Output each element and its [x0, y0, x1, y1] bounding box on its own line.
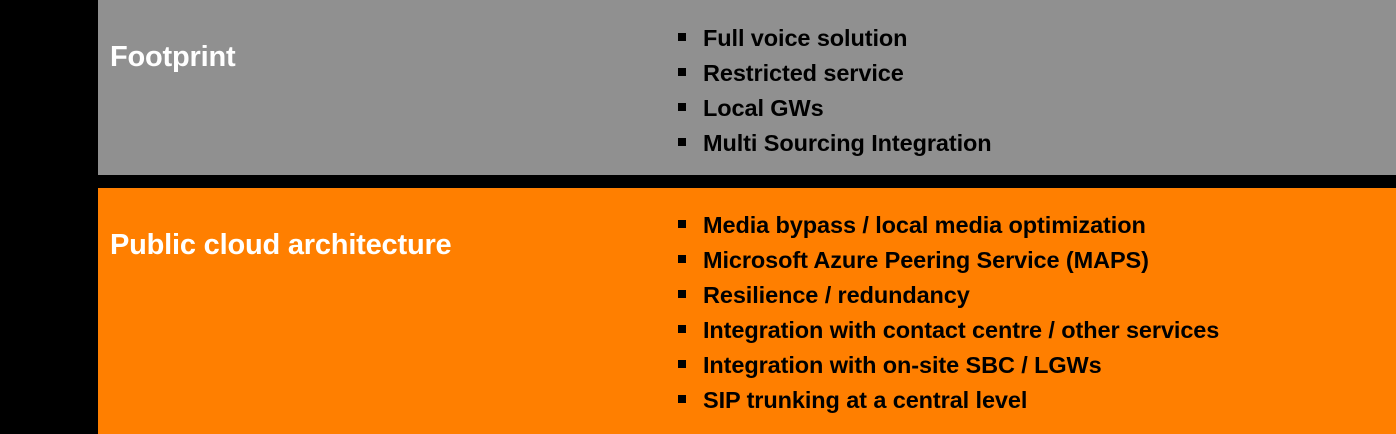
- square-bullet-icon: [678, 325, 686, 333]
- slide-canvas: Footprint Full voice solution Restricted…: [0, 0, 1396, 434]
- list-item: Resilience / redundancy: [678, 278, 1219, 313]
- section-public-cloud-architecture: Public cloud architecture Media bypass /…: [98, 188, 1396, 434]
- section-footprint: Footprint Full voice solution Restricted…: [98, 0, 1396, 175]
- list-item-label: SIP trunking at a central level: [703, 383, 1027, 418]
- section-title-public-cloud-architecture: Public cloud architecture: [98, 212, 451, 260]
- square-bullet-icon: [678, 138, 686, 146]
- bullet-list-footprint: Full voice solution Restricted service L…: [678, 21, 992, 161]
- list-item: Full voice solution: [678, 21, 992, 56]
- list-item: Media bypass / local media optimization: [678, 208, 1219, 243]
- square-bullet-icon: [678, 395, 686, 403]
- list-item-label: Resilience / redundancy: [703, 278, 970, 313]
- list-item: Restricted service: [678, 56, 992, 91]
- square-bullet-icon: [678, 290, 686, 298]
- list-item: Integration with contact centre / other …: [678, 313, 1219, 348]
- section-title-footprint: Footprint: [98, 24, 235, 72]
- square-bullet-icon: [678, 68, 686, 76]
- square-bullet-icon: [678, 360, 686, 368]
- list-item: Local GWs: [678, 91, 992, 126]
- square-bullet-icon: [678, 255, 686, 263]
- list-item-label: Restricted service: [703, 56, 904, 91]
- list-item: SIP trunking at a central level: [678, 383, 1219, 418]
- list-item: Microsoft Azure Peering Service (MAPS): [678, 243, 1219, 278]
- square-bullet-icon: [678, 220, 686, 228]
- list-item-label: Integration with on-site SBC / LGWs: [703, 348, 1102, 383]
- list-item-label: Multi Sourcing Integration: [703, 126, 992, 161]
- list-item: Integration with on-site SBC / LGWs: [678, 348, 1219, 383]
- list-item-label: Full voice solution: [703, 21, 907, 56]
- square-bullet-icon: [678, 33, 686, 41]
- list-item: Multi Sourcing Integration: [678, 126, 992, 161]
- list-item-label: Microsoft Azure Peering Service (MAPS): [703, 243, 1149, 278]
- square-bullet-icon: [678, 103, 686, 111]
- list-item-label: Media bypass / local media optimization: [703, 208, 1146, 243]
- list-item-label: Integration with contact centre / other …: [703, 313, 1219, 348]
- list-item-label: Local GWs: [703, 91, 824, 126]
- bullet-list-public-cloud-architecture: Media bypass / local media optimization …: [678, 208, 1219, 418]
